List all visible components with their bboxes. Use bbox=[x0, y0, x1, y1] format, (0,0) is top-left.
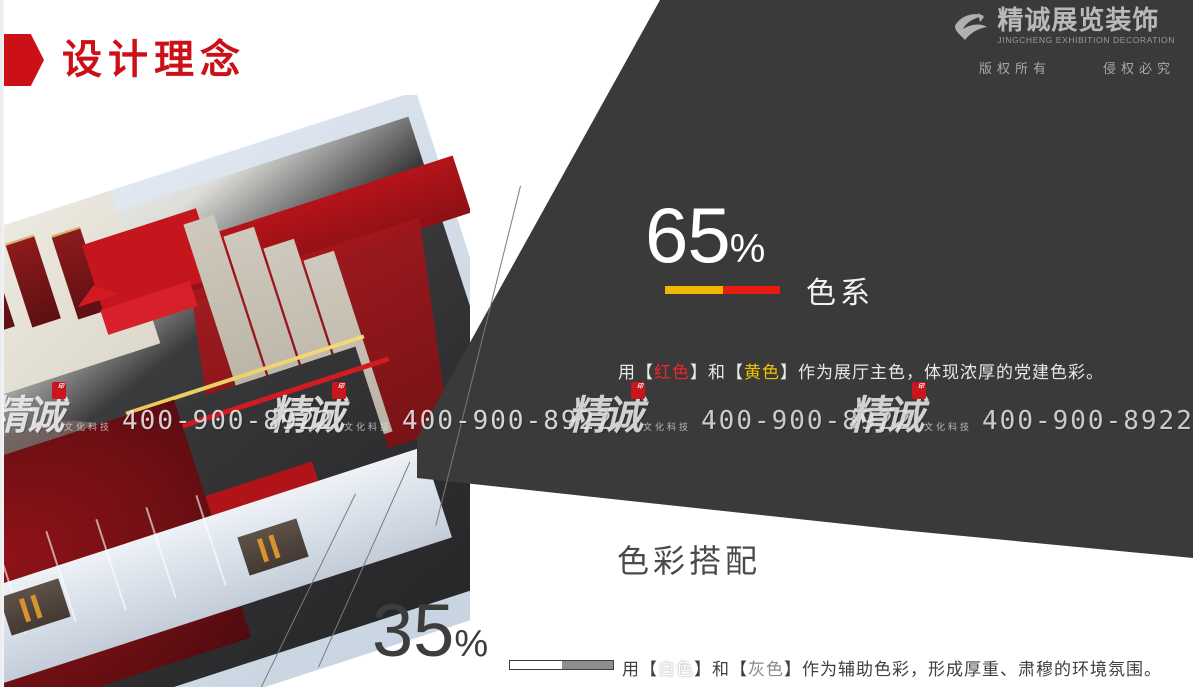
desc-keyword-red: 红色 bbox=[654, 363, 690, 383]
title-arrow-icon bbox=[0, 34, 44, 86]
primary-description: 用【红色】和【黄色】作为展厅主色，体现浓厚的党建色彩。 bbox=[618, 358, 1104, 383]
desc-part-1: 用【 bbox=[618, 363, 654, 383]
desc-part-3: 】作为展厅主色，体现浓厚的党建色彩。 bbox=[780, 363, 1104, 383]
secondary-stat-bar bbox=[509, 660, 614, 670]
secondary-description: 用【白色】和【灰色】作为辅助色彩，形成厚重、肃穆的环境氛围。 bbox=[622, 655, 1162, 680]
primary-stat-number: 65% bbox=[645, 198, 780, 272]
copyright-row: 版权所有 侵权必究 bbox=[951, 58, 1175, 77]
desc-part-2: 】和【 bbox=[690, 363, 744, 383]
page-title-row: 设计理念 bbox=[0, 34, 246, 86]
left-edge-strip bbox=[0, 0, 4, 687]
desc-keyword-yellow: 黄色 bbox=[744, 363, 780, 383]
desc2-part-3: 】作为辅助色彩，形成厚重、肃穆的环境氛围。 bbox=[784, 660, 1162, 680]
primary-percent-sign: % bbox=[730, 227, 766, 271]
brand-logo: 精诚展览装饰 JINGCHENG EXHIBITION DECORATION bbox=[951, 8, 1175, 45]
brand-name-en: JINGCHENG EXHIBITION DECORATION bbox=[997, 35, 1175, 45]
secondary-percent-sign: % bbox=[454, 623, 488, 665]
secondary-stat: 35% bbox=[372, 596, 488, 666]
primary-bar-segment-red bbox=[723, 286, 781, 294]
desc2-keyword-white: 白色 bbox=[658, 660, 694, 680]
desc2-part-1: 用【 bbox=[622, 660, 658, 680]
desc2-part-2: 】和【 bbox=[694, 660, 748, 680]
primary-stat-bar bbox=[665, 286, 780, 294]
secondary-stat-number: 35% bbox=[372, 596, 488, 666]
swoosh-logo-icon bbox=[951, 10, 991, 44]
primary-stat: 65% bbox=[645, 198, 780, 294]
brand-name-cn: 精诚展览装饰 bbox=[997, 8, 1175, 35]
copyright-left: 版权所有 bbox=[979, 58, 1051, 77]
secondary-bar-segment-gray bbox=[562, 661, 614, 669]
brand-names: 精诚展览装饰 JINGCHENG EXHIBITION DECORATION bbox=[997, 8, 1175, 45]
secondary-bar-segment-white bbox=[510, 661, 562, 669]
primary-bar-segment-yellow bbox=[665, 286, 723, 294]
desc2-keyword-gray: 灰色 bbox=[748, 660, 784, 680]
brand-block: 精诚展览装饰 JINGCHENG EXHIBITION DECORATION 版… bbox=[951, 8, 1175, 77]
page-title: 设计理念 bbox=[62, 40, 246, 80]
primary-stat-label: 色系 bbox=[806, 268, 874, 312]
copyright-right: 侵权必究 bbox=[1103, 58, 1175, 77]
slide-canvas: 设计理念 精诚展览装饰 JINGCHENG EXHIBITION DECORAT… bbox=[0, 0, 1193, 687]
secondary-heading: 色彩搭配 bbox=[617, 536, 761, 582]
